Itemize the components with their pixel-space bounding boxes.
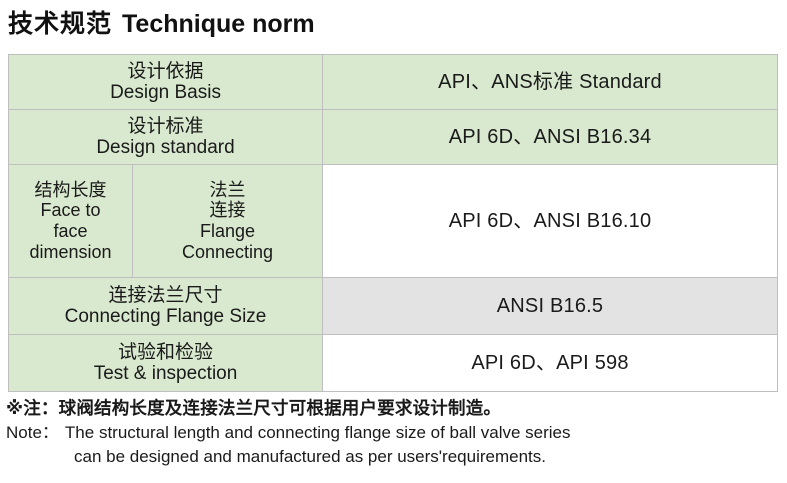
row-label-cn-line2: 连接 <box>135 200 320 221</box>
row-value-design-basis: API、ANS标准 Standard <box>323 55 778 110</box>
table-row: 试验和检验 Test & inspection API 6D、API 598 <box>9 335 778 392</box>
footnote-en-key: Note： <box>6 421 59 445</box>
footnote-en-line1: The structural length and connecting fla… <box>65 421 571 445</box>
row-label-cn: 设计标准 <box>11 116 320 137</box>
row-label-cn: 设计依据 <box>11 61 320 82</box>
row-value-face-to-face: API 6D、ANSI B16.10 <box>323 165 778 278</box>
row-label-test-inspection: 试验和检验 Test & inspection <box>9 335 323 392</box>
table-row: 连接法兰尺寸 Connecting Flange Size ANSI B16.5 <box>9 278 778 335</box>
row-value-test-inspection: API 6D、API 598 <box>323 335 778 392</box>
row-label-design-standard: 设计标准 Design standard <box>9 110 323 165</box>
row-value-text: ANSI B16.5 <box>497 295 604 317</box>
row-label-cn: 试验和检验 <box>11 342 320 363</box>
row-value-text: API 6D、ANSI B16.10 <box>449 210 652 232</box>
row-label-en-line3: dimension <box>11 242 130 263</box>
row-label-en-line1: Flange <box>135 221 320 242</box>
row-label-cn: 结构长度 <box>11 180 130 201</box>
page-title: 技术规范Technique norm <box>8 4 315 40</box>
row-value-text: API、ANS标准 Standard <box>438 71 662 93</box>
row-label-design-basis: 设计依据 Design Basis <box>9 55 323 110</box>
row-label-flange-connecting: 法兰 连接 Flange Connecting <box>133 165 323 278</box>
footnote-cn: ※注：球阀结构长度及连接法兰尺寸可根据用户要求设计制造。 <box>6 396 781 421</box>
row-label-connecting-flange-size: 连接法兰尺寸 Connecting Flange Size <box>9 278 323 335</box>
technique-norm-table: 设计依据 Design Basis API、ANS标准 Standard 设计标… <box>8 54 778 392</box>
footnote: ※注：球阀结构长度及连接法兰尺寸可根据用户要求设计制造。 Note： The s… <box>6 396 781 469</box>
table-row: 结构长度 Face to face dimension 法兰 连接 Flange… <box>9 165 778 278</box>
footnote-en-row: Note： The structural length and connecti… <box>6 421 781 445</box>
row-label-en: Connecting Flange Size <box>11 306 320 327</box>
row-label-en: Design standard <box>11 137 320 158</box>
row-label-en-line1: Face to <box>11 200 130 221</box>
row-label-en-line2: Connecting <box>135 242 320 263</box>
table-row: 设计依据 Design Basis API、ANS标准 Standard <box>9 55 778 110</box>
footnote-en-line2: can be designed and manufactured as per … <box>74 445 781 469</box>
row-label-en: Design Basis <box>11 82 320 103</box>
row-label-cn-line1: 法兰 <box>135 180 320 201</box>
row-label-cn: 连接法兰尺寸 <box>11 285 320 306</box>
row-label-en: Test & inspection <box>11 363 320 384</box>
row-value-text: API 6D、API 598 <box>471 352 628 374</box>
row-value-design-standard: API 6D、ANSI B16.34 <box>323 110 778 165</box>
table-row: 设计标准 Design standard API 6D、ANSI B16.34 <box>9 110 778 165</box>
row-label-en-line2: face <box>11 221 130 242</box>
page-title-en: Technique norm <box>122 10 315 38</box>
row-label-face-to-face: 结构长度 Face to face dimension <box>9 165 133 278</box>
page-title-cn: 技术规范 <box>8 10 112 38</box>
row-value-text: API 6D、ANSI B16.34 <box>449 126 652 148</box>
row-value-connecting-flange-size: ANSI B16.5 <box>323 278 778 335</box>
